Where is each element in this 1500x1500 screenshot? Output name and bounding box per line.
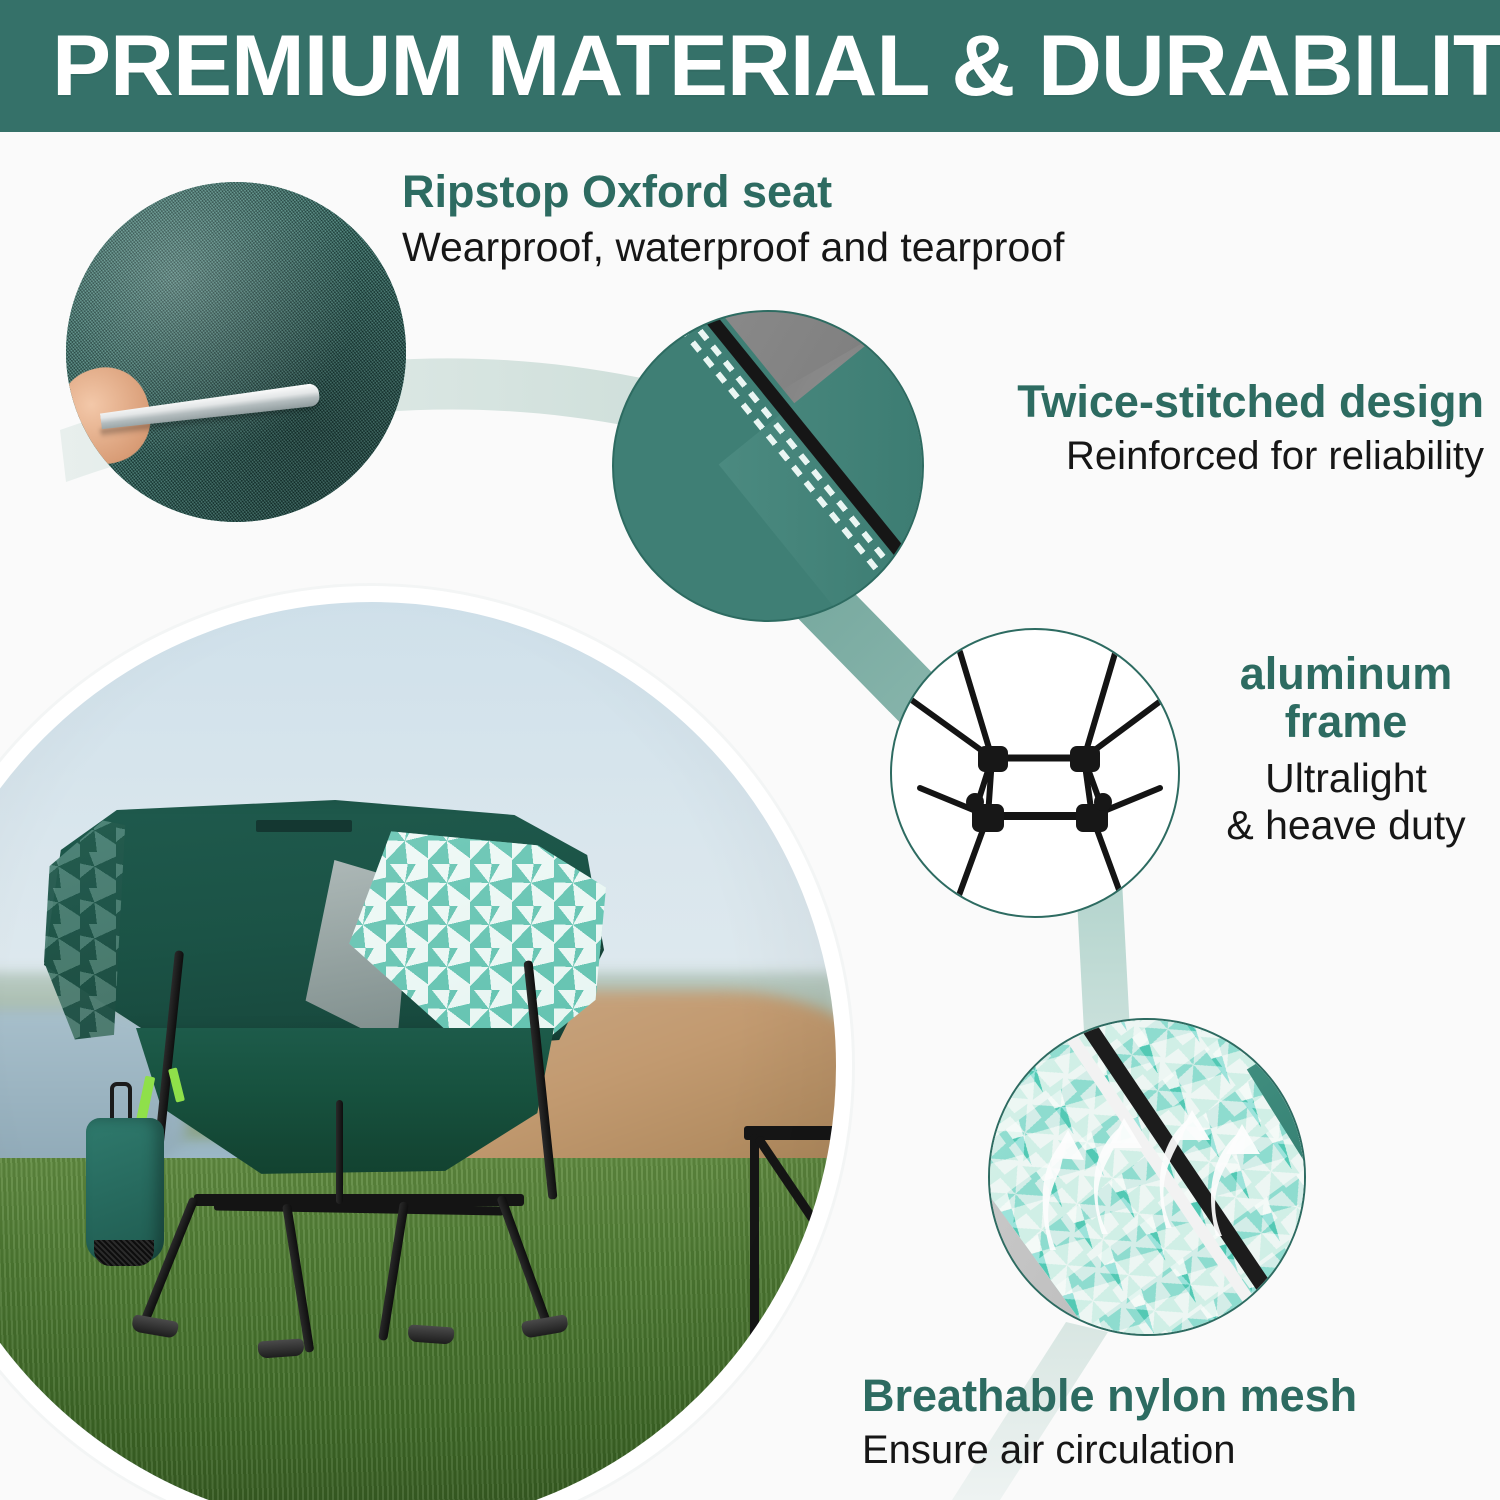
fabric-closeup-icon [66,182,406,522]
photo-vignette [0,600,838,1500]
page-title: PREMIUM MATERIAL & DURABILITY [52,17,1500,116]
frame-tip-left [966,793,984,811]
header-banner: PREMIUM MATERIAL & DURABILITY [0,0,1500,132]
ripstop-weave-texture [66,182,406,522]
frame-hub-upper-left [978,746,1008,772]
feature-text-frame: aluminum frame Ultralight & heave duty [1196,650,1496,849]
airflow-arrows [990,1020,1306,1336]
feature-title-frame: aluminum frame [1196,650,1496,745]
feature-title-ripstop: Ripstop Oxford seat [402,168,1064,216]
aluminum-frame-icon [890,628,1180,918]
feature-subtitle-ripstop: Wearproof, waterproof and tearproof [402,224,1064,271]
feature-title-stitching: Twice-stitched design [944,378,1484,426]
feature-text-ripstop: Ripstop Oxford seat Wearproof, waterproo… [402,168,1064,270]
feature-subtitle-stitching: Reinforced for reliability [944,434,1484,480]
frame-hub-upper-right [1070,746,1100,772]
feature-text-mesh: Breathable nylon mesh Ensure air circula… [862,1372,1482,1473]
frame-tip-right [1094,793,1112,811]
main-product-photo [0,600,838,1500]
feature-text-stitching: Twice-stitched design Reinforced for rel… [944,378,1484,479]
feature-title-mesh: Breathable nylon mesh [862,1372,1482,1420]
feature-subtitle-mesh: Ensure air circulation [862,1428,1482,1474]
mesh-airflow-icon [988,1018,1306,1336]
frame-diagram [892,630,1180,918]
feature-subtitle-frame: Ultralight & heave duty [1196,755,1496,848]
seam-stitch-closeup-icon [612,310,924,622]
infographic-canvas: PREMIUM MATERIAL & DURABILITY [0,0,1500,1500]
